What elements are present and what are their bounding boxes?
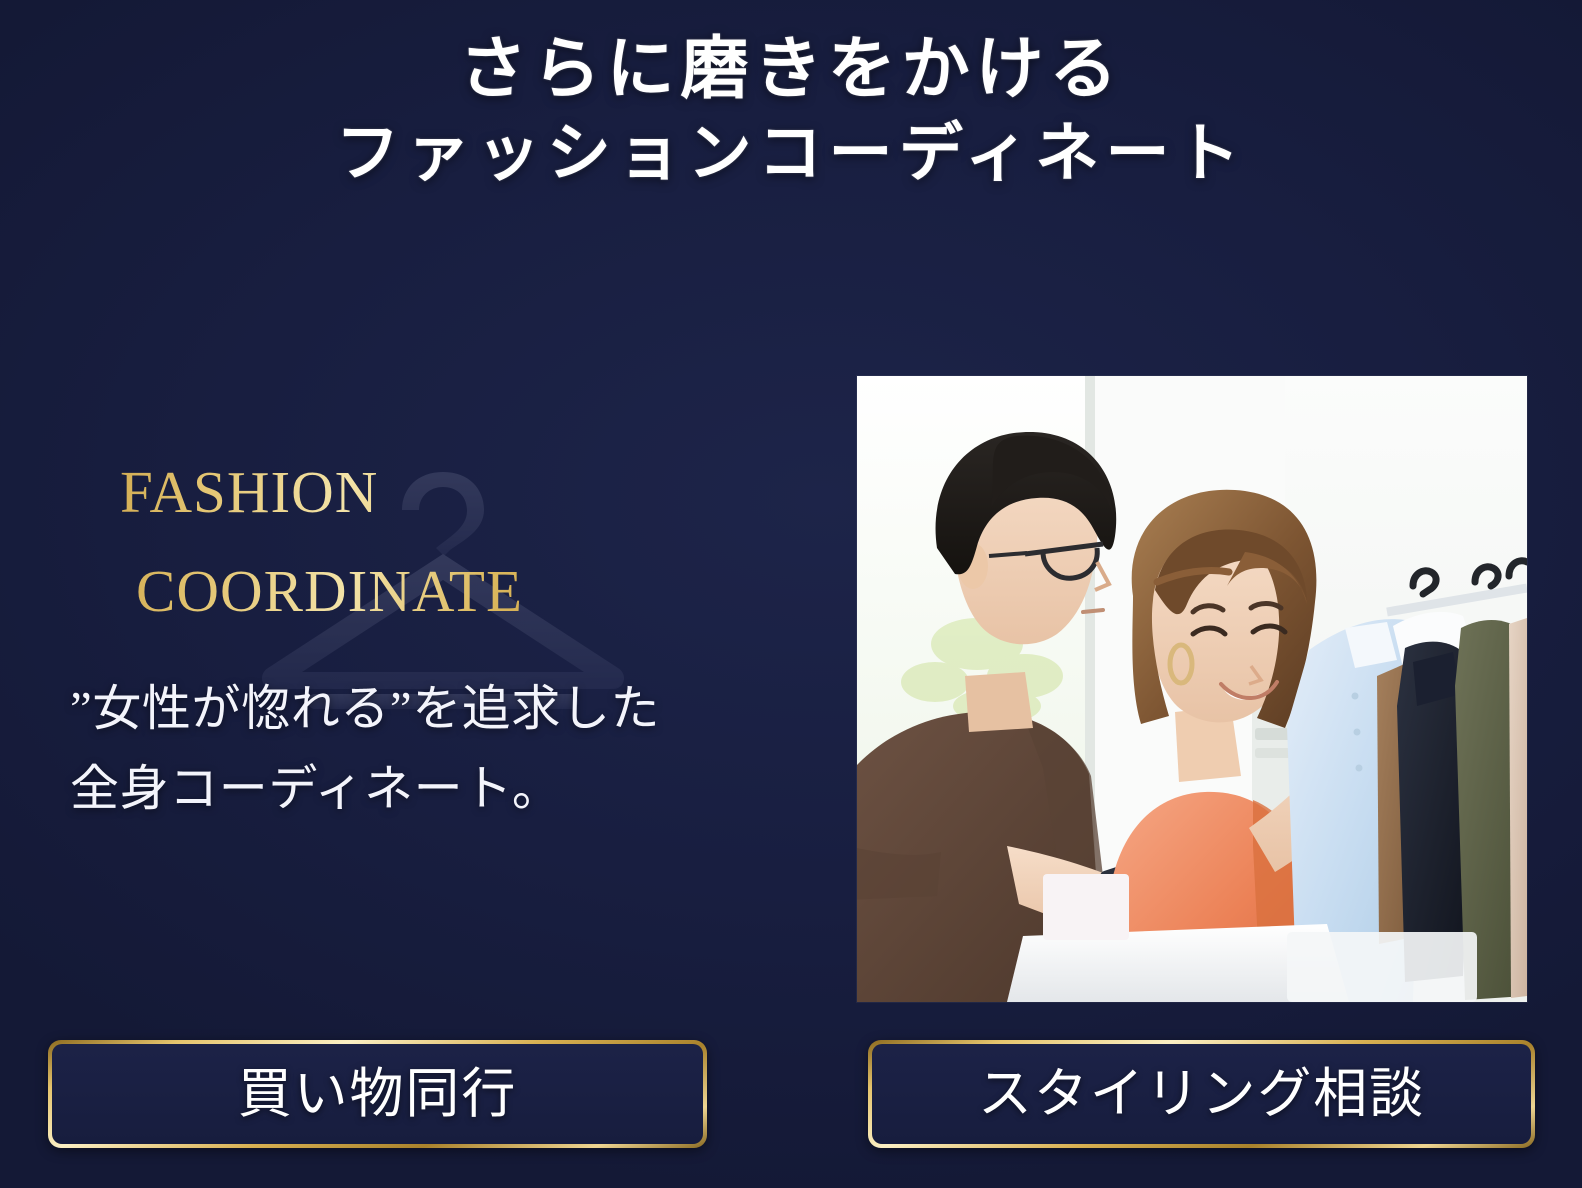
brand-line-fashion: Fashion — [58, 440, 748, 531]
styling-consultation-button-label: スタイリング相談 — [978, 1067, 1425, 1121]
brand-line-coordinate: Coordinate — [58, 539, 748, 630]
lead-copy-line-1: ”女性が惚れる”を追求した — [70, 681, 660, 736]
shopping-accompaniment-button-label: 買い物同行 — [238, 1067, 517, 1121]
styling-consultation-button[interactable]: スタイリング相談 — [868, 1040, 1535, 1148]
page-title-line-1: さらに磨きをかける — [459, 31, 1123, 107]
page-title-line-2: ファッションコーディネート — [0, 113, 1582, 195]
styling-consultation-button-inner: スタイリング相談 — [872, 1044, 1531, 1144]
shopping-accompaniment-button[interactable]: 買い物同行 — [48, 1040, 707, 1148]
shopping-accompaniment-button-inner: 買い物同行 — [52, 1044, 703, 1144]
intro-column: Fashion Coordinate ”女性が惚れる”を追求した 全身コーディネ… — [58, 440, 748, 860]
brand-wordmark: Fashion Coordinate — [58, 440, 748, 629]
page-title: さらに磨きをかける ファッションコーディネート — [0, 26, 1582, 195]
lead-copy: ”女性が惚れる”を追求した 全身コーディネート。 — [58, 669, 748, 828]
fashion-coordinate-photo — [857, 376, 1527, 1002]
lead-copy-line-2: 全身コーディネート。 — [70, 761, 561, 816]
fashion-coordinate-section: さらに磨きをかける ファッションコーディネート — [0, 0, 1582, 1188]
